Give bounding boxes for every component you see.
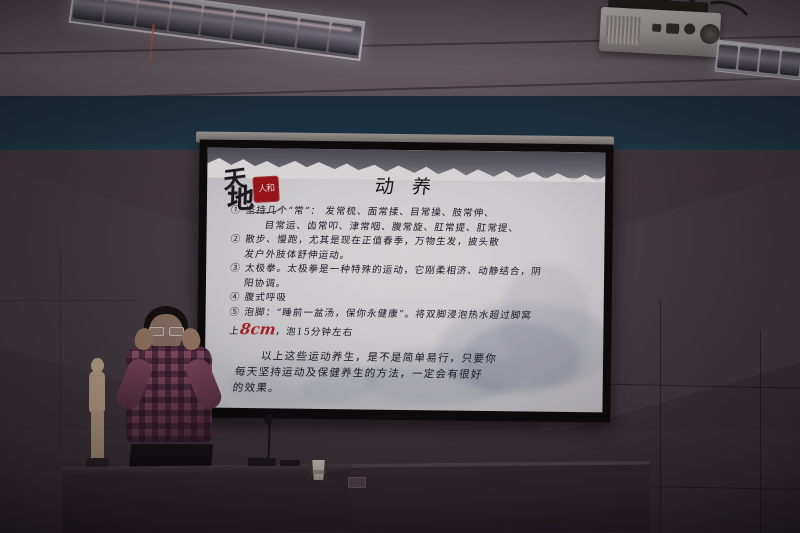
figurine-torso xyxy=(89,371,105,413)
presenter-desk-right xyxy=(350,464,651,533)
anatomical-model-figurine xyxy=(86,358,110,470)
bullet-text: 腹式呼吸 xyxy=(244,292,288,304)
wall-panel-seam xyxy=(760,330,761,533)
gooseneck-microphone-head xyxy=(264,414,273,425)
desk-item xyxy=(280,460,300,466)
slide-body: ① 坚持几个“常”： 发常梳、面常揉、目常操、肢常伸、 目常运、齿常叩、津常咽、… xyxy=(229,204,591,400)
closing-line: 的效果。 xyxy=(226,380,588,400)
light-louver xyxy=(104,0,138,26)
bullet-number: ④ xyxy=(229,292,241,303)
lecture-room-photo: 天 地 人和 动 养 ① 坚持几个“常”： 发常梳、面常揉、目常操、肢常伸、 目… xyxy=(0,0,800,533)
presenter-woman xyxy=(118,306,220,466)
wall-panel-seam xyxy=(660,300,661,533)
bullet-text: 发户外肢体舒伸运动。 xyxy=(244,249,351,261)
bullet-text: 目常运、齿常叩、津常咽、腹常旋、肛常提、肛常提、 xyxy=(264,220,520,234)
wall-panel-seam xyxy=(0,300,140,301)
light-louver xyxy=(72,0,106,22)
bullet-number: ① xyxy=(230,205,242,216)
bullet-number: ⑤ xyxy=(229,306,241,317)
light-louver xyxy=(780,50,800,76)
light-louver xyxy=(738,46,759,72)
bullet-number: ③ xyxy=(229,263,241,274)
presenter-desk-front xyxy=(62,472,355,533)
eyeglasses xyxy=(149,327,183,334)
paper-cup-band xyxy=(311,470,326,474)
bullet-text: 散步、慢跑，尤其是现在正值春季，万物生发，披头散 xyxy=(245,234,501,248)
projector-port xyxy=(666,23,680,34)
projected-slide: 天 地 人和 动 养 ① 坚持几个“常”： 发常梳、面常揉、目常操、肢常伸、 目… xyxy=(204,148,605,413)
light-louver xyxy=(759,48,780,74)
wall-panel-seam xyxy=(60,250,61,450)
desk-socket-panel[interactable] xyxy=(348,477,366,488)
projection-screen[interactable]: 天 地 人和 动 养 ① 坚持几个“常”： 发常梳、面常揉、目常操、肢常伸、 目… xyxy=(196,139,613,422)
desk-item xyxy=(248,458,276,466)
projector-port xyxy=(684,23,696,35)
bullet-text: 泡脚：“睡前一盆汤，保你永健康”。将双脚浸泡热水超过脚窝 xyxy=(244,307,533,321)
bullet-text: 坚持几个“常”： 发常梳、面常揉、目常操、肢常伸、 xyxy=(245,205,496,219)
figurine-legs xyxy=(91,411,104,461)
slide-title: 动 养 xyxy=(206,170,606,202)
light-louver xyxy=(717,44,738,70)
bullet-text: 太极拳。太极拳是一种特殊的运动，它刚柔相济、动静结合，阴 xyxy=(244,263,542,278)
projector-port xyxy=(652,24,661,32)
footnote-highlight-measure: 8cm xyxy=(239,320,277,338)
slide-closing-paragraph: 以上这些运动养生，是不是简单易行，只要你 每天坚持运动及保健养生的方法，一定会有… xyxy=(226,348,592,400)
slide-footnote-line: 上8cm，泡15分钟左右 xyxy=(228,320,591,345)
footnote-suffix: ，泡15分钟左右 xyxy=(275,326,354,338)
bullet-text: 阳协调。 xyxy=(243,278,287,290)
bullet-number: ② xyxy=(230,234,242,245)
